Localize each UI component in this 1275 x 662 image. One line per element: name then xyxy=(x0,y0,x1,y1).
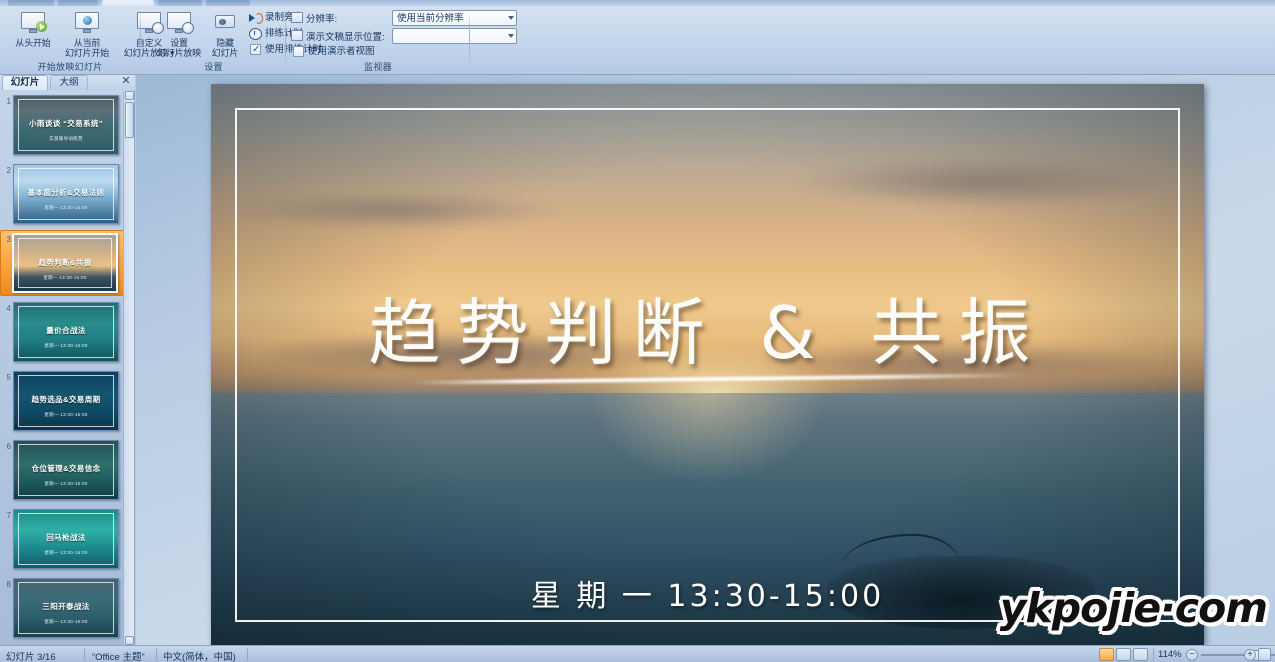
resolution-dropdown[interactable]: 使用当前分辨率 xyxy=(392,10,517,26)
from-beginning-label: 从头开始 xyxy=(15,38,50,48)
group-label-monitors: 监视器 xyxy=(287,60,469,73)
slide-thumbnail-image[interactable]: 三阳开泰战法星期一 13:30-15:00 xyxy=(13,578,119,638)
thumbnail-subtitle: 星期一 13:30-15:00 xyxy=(14,343,118,349)
use-presenter-view-checkbox[interactable]: 使用演示者视图 xyxy=(291,44,375,59)
slide-thumbnail-image[interactable]: 回马枪战法星期一 13:30-15:00 xyxy=(13,509,119,569)
group-label-setup: 设置 xyxy=(142,60,285,73)
slide-thumbnail-3[interactable]: 3趋势判断&共振星期一 13:30-15:00 xyxy=(0,233,124,295)
slide-thumbnail-image[interactable]: 量价合战法星期一 13:30-15:00 xyxy=(13,302,119,362)
slide-thumbnail-image[interactable]: 仓位管理&交易信念星期一 13:30-15:00 xyxy=(13,440,119,500)
status-slide-counter: 幻灯片 3/16 xyxy=(6,649,56,662)
tab-slides-label: 幻灯片 xyxy=(11,77,40,88)
hide-slide-label-1: 隐藏 xyxy=(216,38,234,48)
record-narration-icon xyxy=(249,12,262,24)
resolution-icon xyxy=(291,12,303,23)
scroll-down-button[interactable] xyxy=(125,636,134,645)
status-separator-3 xyxy=(247,648,248,661)
status-separator-1 xyxy=(84,648,85,661)
set-up-slideshow-label-2: 幻灯片放映 xyxy=(157,48,201,58)
slide-thumbnail-4[interactable]: 4量价合战法星期一 13:30-15:00 xyxy=(0,302,124,364)
slide-thumbnail-7[interactable]: 7回马枪战法星期一 13:30-15:00 xyxy=(0,509,124,571)
hide-slide-icon xyxy=(210,9,240,37)
group-separator-1 xyxy=(140,10,141,66)
pane-tab-bar: 幻灯片 大纲 ✕ xyxy=(0,75,135,90)
scrollbar-thumb[interactable] xyxy=(125,102,134,138)
slide-number: 8 xyxy=(1,580,11,589)
slide-number: 4 xyxy=(1,304,11,313)
thumbnail-subtitle: 星期一 13:30-15:00 xyxy=(14,275,116,281)
use-presenter-view-check-icon xyxy=(293,46,304,57)
scroll-up-button[interactable] xyxy=(125,91,134,100)
from-current-slide-button[interactable]: 从当前 幻灯片开始 xyxy=(56,8,118,62)
chevron-down-icon-2 xyxy=(508,34,514,38)
thumbnail-title: 小雨谈谈 “交易系统” xyxy=(14,118,118,129)
show-presentation-on-label: 演示文稿显示位置: xyxy=(306,29,385,43)
slide-thumbnail-2[interactable]: 2基本面分析&交易法则星期一 13:30-15:00 xyxy=(0,164,124,226)
hide-slide-label-2: 幻灯片 xyxy=(212,48,238,58)
thumbnail-subtitle: 星期一 13:30-15:00 xyxy=(14,550,118,556)
ribbon: 从头开始 从当前 幻灯片开始 自定义 幻灯片放映 ▾ xyxy=(0,0,1275,75)
zoom-in-button[interactable]: + xyxy=(1244,649,1256,661)
slide-thumbnail-image[interactable]: 趋势选品&交易周期星期一 13:30-15:00 xyxy=(13,371,119,431)
show-presentation-on-dropdown[interactable] xyxy=(392,28,517,44)
thumbnail-subtitle: 星期一 13:30-15:00 xyxy=(14,412,118,418)
view-slide-sorter-button[interactable] xyxy=(1116,648,1131,661)
from-current-slide-label-2: 幻灯片开始 xyxy=(65,48,109,58)
from-beginning-icon xyxy=(18,9,48,37)
slide-thumbnail-5[interactable]: 5趋势选品&交易周期星期一 13:30-15:00 xyxy=(0,371,124,433)
site-watermark: ykpojie·com xyxy=(1000,584,1267,632)
tab-outline-label: 大纲 xyxy=(59,77,78,88)
slide-thumbnail-image[interactable]: 小雨谈谈 “交易系统”实盘辅导训练营 xyxy=(13,95,119,155)
zoom-out-button[interactable]: − xyxy=(1186,649,1198,661)
from-current-slide-icon xyxy=(72,9,102,37)
status-language: 中文(简体，中国) xyxy=(163,649,236,662)
slides-pane-scrollbar[interactable] xyxy=(123,91,134,645)
close-pane-icon[interactable]: ✕ xyxy=(120,76,132,88)
powerpoint-window: 从头开始 从当前 幻灯片开始 自定义 幻灯片放映 ▾ xyxy=(0,0,1275,662)
monitor-icon xyxy=(291,30,303,41)
tab-slides[interactable]: 幻灯片 xyxy=(2,75,48,90)
resolution-value: 使用当前分辨率 xyxy=(397,13,464,24)
slide-thumbnail-image[interactable]: 趋势判断&共振星期一 13:30-15:00 xyxy=(12,233,118,293)
group-separator-3 xyxy=(469,10,470,66)
thumbnail-title: 趋势判断&共振 xyxy=(14,257,116,268)
use-presenter-view-label: 使用演示者视图 xyxy=(308,46,375,57)
slide-thumbnail-image[interactable]: 基本面分析&交易法则星期一 13:30-15:00 xyxy=(13,164,119,224)
group-separator-2 xyxy=(285,10,286,66)
thumbnail-title: 回马枪战法 xyxy=(14,532,118,543)
zoom-level-label: 114% xyxy=(1158,649,1182,660)
slide-thumbnail-8[interactable]: 8三阳开泰战法星期一 13:30-15:00 xyxy=(0,578,124,640)
view-slideshow-button[interactable] xyxy=(1133,648,1148,661)
set-up-slideshow-icon xyxy=(164,9,194,37)
slides-pane: 幻灯片 大纲 ✕ 1小雨谈谈 “交易系统”实盘辅导训练营2基本面分析&交易法则星… xyxy=(0,75,135,645)
thumbnail-title: 量价合战法 xyxy=(14,325,118,336)
use-rehearsed-timings-check-icon xyxy=(250,44,261,55)
slide-editing-area: 趋势判断 & 共振 星 期 一 13:30-15:00 xyxy=(136,75,1275,645)
rehearse-timings-icon xyxy=(249,28,262,40)
resolution-label: 分辨率: xyxy=(306,11,337,25)
hide-slide-button[interactable]: 隐藏 幻灯片 xyxy=(200,8,250,62)
thumbnail-subtitle: 星期一 13:30-15:00 xyxy=(14,205,118,211)
slide-number: 2 xyxy=(1,166,11,175)
chevron-down-icon xyxy=(508,16,514,20)
thumbnail-title: 趋势选品&交易周期 xyxy=(14,394,118,405)
slide-title[interactable]: 趋势判断 & 共振 xyxy=(211,274,1204,379)
status-theme: “Office 主题” xyxy=(92,649,145,662)
from-beginning-button[interactable]: 从头开始 xyxy=(2,8,64,62)
status-separator-4 xyxy=(1153,648,1154,661)
ribbon-group-start-slideshow: 从头开始 从当前 幻灯片开始 自定义 幻灯片放映 ▾ xyxy=(0,6,140,74)
slide-thumbnail-6[interactable]: 6仓位管理&交易信念星期一 13:30-15:00 xyxy=(0,440,124,502)
view-normal-button[interactable] xyxy=(1099,648,1114,661)
status-separator-2 xyxy=(156,648,157,661)
slide-number: 5 xyxy=(1,373,11,382)
ribbon-group-setup: 设置 幻灯片放映 隐藏 幻灯片 录制旁白 排练计时 xyxy=(142,6,285,74)
thumbnail-title: 三阳开泰战法 xyxy=(14,601,118,612)
thumbnail-title: 仓位管理&交易信念 xyxy=(14,463,118,474)
thumbnail-subtitle: 星期一 13:30-15:00 xyxy=(14,481,118,487)
status-bar: 幻灯片 3/16 “Office 主题” 中文(简体，中国) 114% − + xyxy=(0,645,1275,662)
slide-thumbnail-1[interactable]: 1小雨谈谈 “交易系统”实盘辅导训练营 xyxy=(0,95,124,157)
slide-thumbnail-list[interactable]: 1小雨谈谈 “交易系统”实盘辅导训练营2基本面分析&交易法则星期一 13:30-… xyxy=(0,91,135,645)
fit-slide-to-window-button[interactable] xyxy=(1258,648,1271,661)
from-current-slide-label-1: 从当前 xyxy=(74,38,100,48)
slide-number: 1 xyxy=(1,97,11,106)
set-up-slideshow-label-1: 设置 xyxy=(170,38,188,48)
slide-number: 3 xyxy=(1,235,11,244)
thumbnail-subtitle: 实盘辅导训练营 xyxy=(14,136,118,142)
thumbnail-title: 基本面分析&交易法则 xyxy=(14,187,118,198)
current-slide[interactable]: 趋势判断 & 共振 星 期 一 13:30-15:00 xyxy=(211,84,1204,646)
thumbnail-subtitle: 星期一 13:30-15:00 xyxy=(14,619,118,625)
tab-outline[interactable]: 大纲 xyxy=(50,75,88,90)
slide-number: 6 xyxy=(1,442,11,451)
slide-number: 7 xyxy=(1,511,11,520)
group-label-start-slideshow: 开始放映幻灯片 xyxy=(0,60,140,73)
ribbon-group-monitors: 分辨率: 使用当前分辨率 演示文稿显示位置: 使用演示者视图 监视器 xyxy=(287,6,469,74)
